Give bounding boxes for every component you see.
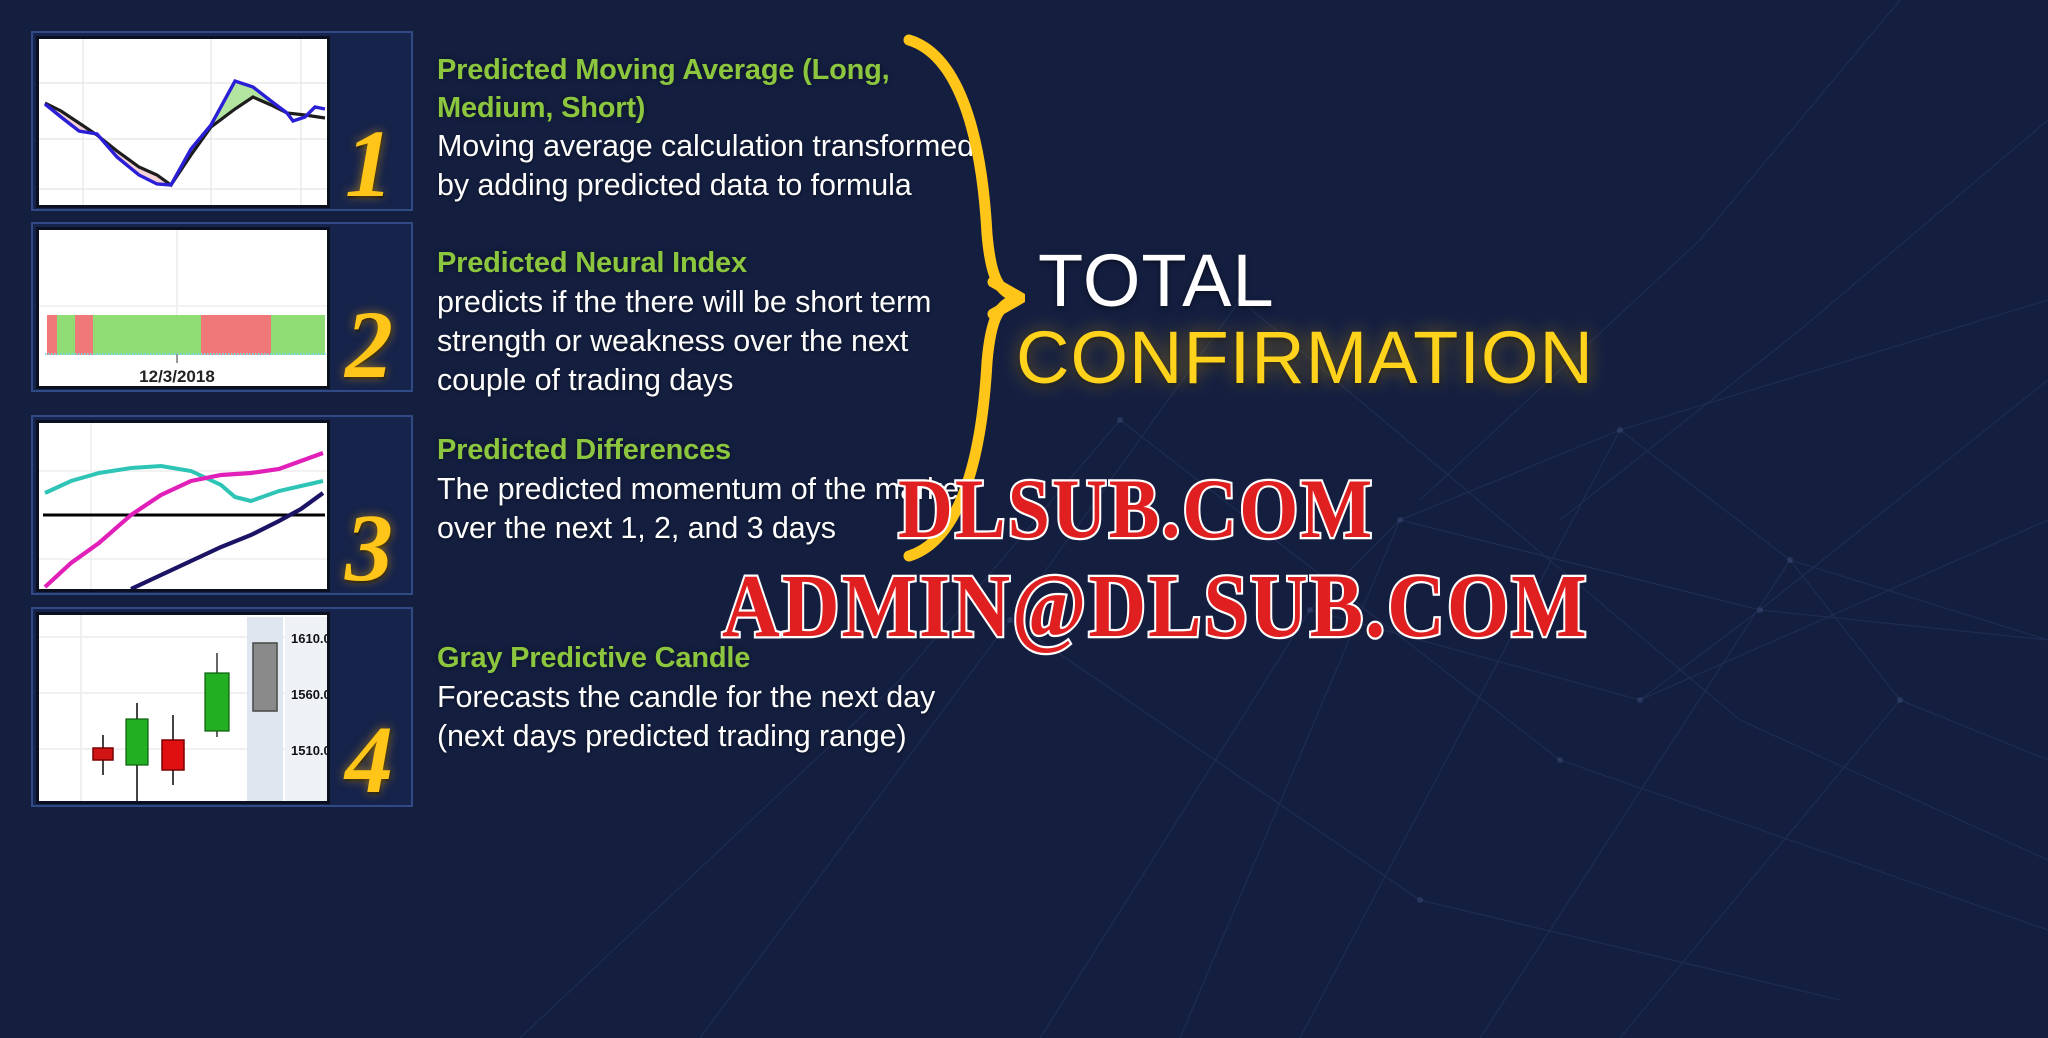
neural-index-date-label: 12/3/2018: [139, 367, 215, 386]
price-label-1560: 1560.00: [291, 687, 327, 702]
predicted-moving-average-chart[interactable]: [36, 36, 330, 208]
item-number-3: 3: [330, 420, 408, 590]
watermark-email: ADMIN@DLSUB.COM: [722, 557, 1589, 659]
neural-index-bars: [47, 315, 325, 355]
callout-confirmation: CONFIRMATION: [1016, 315, 1594, 400]
item-panel-3[interactable]: 3: [31, 415, 413, 595]
item-panel-4[interactable]: 1610.00 1560.00 1510.00 4: [31, 607, 413, 807]
predicted-differences-chart[interactable]: [36, 420, 330, 592]
item-number-1: 1: [330, 36, 408, 206]
predicted-neural-index-chart[interactable]: 12/3/2018: [36, 227, 330, 389]
callout-total: TOTAL: [1038, 238, 1275, 323]
item-number-4: 4: [330, 612, 408, 802]
watermark-site: DLSUB.COM: [898, 461, 1374, 558]
gray-predicted-candle: [253, 643, 277, 711]
gray-predictive-candle-chart[interactable]: 1610.00 1560.00 1510.00: [36, 612, 330, 804]
item-panel-1[interactable]: 1: [31, 31, 413, 211]
item-body-4: Forecasts the candle for the next day (n…: [437, 678, 977, 756]
item-number-2: 2: [330, 227, 408, 387]
price-label-1610: 1610.00: [291, 631, 327, 646]
price-label-1510: 1510.00: [291, 743, 327, 758]
item-panel-2[interactable]: 12/3/2018 2: [31, 222, 413, 392]
infographic-root: 1: [0, 0, 2048, 1038]
